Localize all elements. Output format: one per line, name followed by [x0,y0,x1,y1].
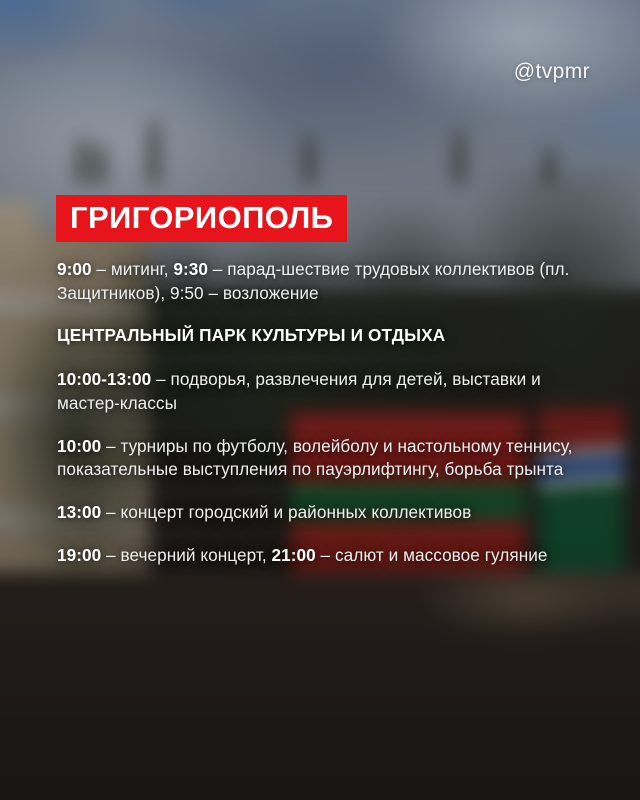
schedule-entry-evening-concert: 19:00 – вечерний концерт, 21:00 – салют … [57,544,587,568]
poster-root: @tvpmr ГРИГОРИОПОЛЬ 9:00 – митинг, 9:30 … [0,0,640,800]
poster-content: @tvpmr ГРИГОРИОПОЛЬ 9:00 – митинг, 9:30 … [0,0,640,800]
schedule-time: 10:00-13:00 [57,369,151,389]
schedule-entry-central-park-heading: ЦЕНТРАЛЬНЫЙ ПАРК КУЛЬТУРЫ И ОТДЫХА [57,324,587,348]
schedule-time: 19:00 [57,545,101,565]
schedule-time: 13:00 [57,502,101,522]
city-banner: ГРИГОРИОПОЛЬ [56,195,347,242]
watermark-handle: @tvpmr [514,60,590,84]
schedule-time: ЦЕНТРАЛЬНЫЙ ПАРК КУЛЬТУРЫ И ОТДЫХА [57,325,445,345]
schedule-text: – вечерний концерт, [101,545,271,565]
schedule-time: 9:30 [173,259,208,279]
schedule-time: 10:00 [57,436,101,456]
schedule-entry-podvorya: 10:00-13:00 – подворья, развлечения для … [57,368,587,415]
schedule-text: – турниры по футболу, волейболу и настол… [57,436,573,480]
schedule-list: 9:00 – митинг, 9:30 – парад-шествие труд… [57,258,587,568]
schedule-time: 9:00 [57,259,92,279]
schedule-text: – салют и массовое гуляние [316,545,548,565]
schedule-entry-tournaments: 10:00 – турниры по футболу, волейболу и … [57,435,587,482]
schedule-time: 21:00 [272,545,316,565]
schedule-entry-day-concert: 13:00 – концерт городский и районных кол… [57,501,587,525]
schedule-text: – митинг, [92,259,174,279]
schedule-text: – концерт городский и районных коллектив… [101,502,471,522]
schedule-entry-morning-meeting: 9:00 – митинг, 9:30 – парад-шествие труд… [57,258,587,305]
city-name: ГРИГОРИОПОЛЬ [70,202,333,233]
